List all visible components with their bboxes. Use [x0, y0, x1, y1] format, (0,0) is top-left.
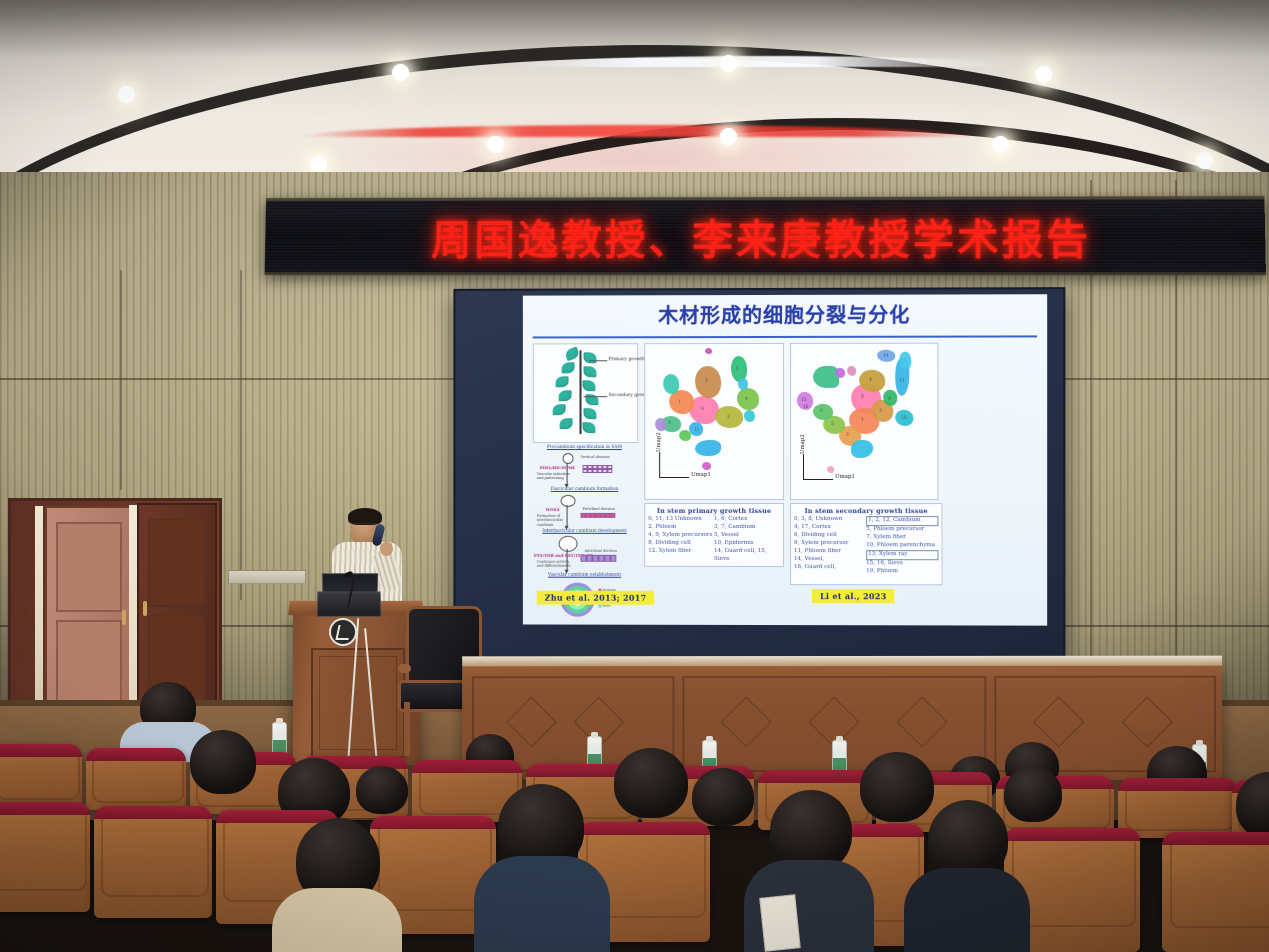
- legend-column: 1, 6, Cortex 3, 7, Cambium 5, Vessel 10,…: [714, 516, 780, 564]
- legend-secondary-growth: In stem secondary growth tissue 0, 3, 8,…: [790, 503, 942, 585]
- umap-cluster: [847, 366, 856, 376]
- legend-item: 5, Phloem precursor: [866, 526, 938, 534]
- umap-cluster-number: 6: [820, 408, 823, 413]
- flow-annotation: Periclinal division: [583, 507, 615, 511]
- flow-annotation: Vascular initiation and patterning: [537, 472, 577, 481]
- umap-cluster: [695, 440, 721, 456]
- auditorium-seat[interactable]: [94, 806, 212, 918]
- audience-head: [692, 768, 754, 826]
- legend-title: In stem secondary growth tissue: [791, 504, 941, 515]
- slide-title-rule: [533, 335, 1037, 338]
- slide-title: 木材形成的细胞分裂与分化: [523, 298, 1047, 328]
- flow-step-label: Procambium specification in SAM: [533, 445, 636, 450]
- seat-headrest: [86, 748, 186, 761]
- umap-cluster-number: 8: [888, 396, 891, 401]
- leaf-icon: [562, 362, 575, 373]
- flow-step-label: Vascular cambium establishment: [533, 573, 636, 578]
- legend-rows: 0, 11, 13 Unknown 2. Phloem 4, 9, Xylem …: [645, 515, 783, 565]
- umap-x-axis-label: Umap1: [691, 472, 711, 478]
- institution-emblem-icon: [329, 618, 357, 646]
- umap-cluster-number: 1: [678, 399, 681, 404]
- door-leaf-open[interactable]: [45, 506, 133, 732]
- document-paper[interactable]: [759, 894, 800, 951]
- auditorium-seat[interactable]: [1118, 778, 1238, 838]
- umap-y-axis-label: Umap2: [800, 434, 806, 454]
- umap-plot-secondary: 0 1 2 3 4 5 6 8 10: [790, 343, 938, 500]
- seat-headrest: [0, 744, 82, 757]
- ceiling-spotlight: [310, 156, 327, 173]
- audience-shoulders: [272, 888, 402, 952]
- door-light-gap: [35, 506, 43, 726]
- plant-stem: [580, 350, 582, 434]
- umap-cluster-number: 5: [736, 366, 739, 371]
- flow-gene-label: WOX4: [545, 507, 561, 512]
- auditorium-seat[interactable]: [1162, 832, 1269, 952]
- legend-item: 11, Phloem fiber: [794, 548, 866, 556]
- umap-cluster: [655, 418, 666, 431]
- umap-cluster-number: 14: [883, 353, 888, 358]
- umap-cluster: [702, 462, 711, 470]
- citation-left: Zhu et al. 2013; 2017: [537, 591, 655, 605]
- flow-arrow: [567, 505, 568, 527]
- cell-file-icon: [581, 555, 617, 562]
- umap-cluster-number: 11: [899, 378, 904, 383]
- legend-item: 2. Phloem: [648, 524, 714, 532]
- legend-primary-growth: In stem primary growth tissue 0, 11, 13 …: [644, 503, 784, 567]
- auditorium-seat[interactable]: [86, 748, 186, 810]
- leaf-icon: [583, 408, 596, 419]
- umap-y-axis: [803, 454, 804, 480]
- umap-scatter-primary: 0 1 2 3 4 5 9 11: [645, 344, 783, 499]
- audience-head: [1004, 766, 1062, 822]
- umap-cluster-number: 2: [879, 408, 882, 413]
- leaf-icon: [583, 380, 596, 391]
- legend-item: 4, 9, Xylem precursors: [648, 532, 714, 540]
- seat-headrest: [412, 760, 522, 773]
- legend-title: In stem primary growth tissue: [645, 504, 783, 515]
- seat-headrest: [578, 822, 710, 835]
- seat-headrest: [1004, 828, 1140, 841]
- audience-head: [356, 766, 408, 814]
- legend-item: 10, Phloem parenchyma: [866, 542, 938, 550]
- legend-item: 0, 11, 13 Unknown: [648, 516, 714, 524]
- legend-item: 6, Dividing cell: [794, 532, 866, 540]
- umap-cluster-number: 16: [803, 404, 808, 409]
- umap-cluster-number: 10: [901, 415, 906, 420]
- audience-head: [190, 730, 256, 794]
- umap-cluster-number: 0: [701, 406, 704, 411]
- umap-cluster: [738, 378, 748, 390]
- umap-cluster-number: 11: [694, 427, 699, 432]
- leaf-icon: [583, 366, 596, 377]
- flow-arrow: [567, 549, 568, 571]
- cell-icon: [559, 536, 578, 552]
- legend-item-highlighted: 1, 2, 12, Cambium: [866, 516, 938, 526]
- seat-headrest: [370, 816, 496, 829]
- legend-item: 14, Guard cell, 15, Sieve: [714, 548, 780, 564]
- umap-plot-primary: 0 1 2 3 4 5 9 11: [644, 343, 784, 500]
- leaf-icon: [583, 352, 596, 363]
- umap-scatter-secondary: 0 1 2 3 4 5 6 8 10: [791, 344, 937, 499]
- speaker-glasses: [353, 523, 377, 529]
- audience-head: [860, 752, 934, 822]
- legend-item: 12. Xylem fiber: [648, 548, 714, 556]
- seat-headrest: [1162, 832, 1269, 845]
- umap-x-axis-label: Umap1: [835, 474, 855, 480]
- head-table-top: [462, 656, 1222, 667]
- callout-line: [589, 360, 607, 361]
- umap-cluster-number: 4: [745, 396, 748, 401]
- ceiling-spotlight: [720, 55, 737, 72]
- umap-cluster-number: 5: [831, 421, 834, 426]
- flow-gene-label: PIN1/HD-ZIPIII: [539, 465, 576, 470]
- legend-column: 1, 2, 12, Cambium 5, Phloem precursor 7,…: [866, 516, 938, 576]
- audience-shoulders: [474, 856, 610, 952]
- legend-item: 5, Vessel: [714, 532, 780, 540]
- primary-growth-label: Primary growth: [608, 357, 645, 362]
- plant-growth-diagram: Primary growth Secondary growth: [533, 343, 638, 443]
- legend-item: 14, Vessel,: [794, 556, 866, 564]
- ceiling-spotlight: [720, 128, 737, 145]
- seat-headrest: [758, 770, 872, 783]
- speaker-hand: [380, 542, 393, 556]
- callout-line: [583, 396, 607, 397]
- led-banner-text: 周国逸教授、李来庚教授学术报告: [265, 199, 1266, 272]
- leaf-icon: [564, 347, 580, 361]
- umap-cluster: [744, 410, 755, 422]
- ceiling-spotlight: [1035, 66, 1052, 83]
- legend-item: 8, Dividing cell: [648, 540, 714, 548]
- umap-x-axis: [803, 479, 833, 480]
- seat-headrest: [1118, 778, 1238, 791]
- legend-item: 9, Xylem precursor: [794, 540, 866, 548]
- legend-item: 4, 17, Cortex: [794, 524, 866, 532]
- leaf-icon: [553, 404, 566, 415]
- flow-annotation: Vertical division: [581, 455, 610, 459]
- legend-item: 10, Epidermis: [714, 540, 780, 548]
- legend-item: 1, 6, Cortex: [714, 516, 780, 524]
- umap-cluster-number: 2: [705, 378, 708, 383]
- leaf-icon: [559, 390, 572, 401]
- umap-cluster: [705, 348, 712, 354]
- door-handle[interactable]: [143, 601, 147, 616]
- umap-cluster: [663, 374, 679, 394]
- umap-y-axis-label: Umap2: [656, 432, 662, 452]
- seat-headrest: [0, 802, 90, 815]
- legend-item-highlighted: 13, Xylem ray: [866, 550, 938, 560]
- umap-x-axis: [659, 477, 689, 478]
- umap-cluster-number: 4: [869, 377, 872, 382]
- audience-head: [614, 748, 688, 818]
- flow-arrow: [567, 463, 568, 485]
- legend-column: 0, 3, 8, Unknown 4, 17, Cortex 6, Dividi…: [794, 516, 866, 576]
- cell-file-icon: [583, 465, 613, 473]
- door-handle[interactable]: [122, 610, 126, 625]
- legend-rows: 0, 3, 8, Unknown 4, 17, Cortex 6, Dividi…: [791, 515, 941, 577]
- legend-item: 18, Guard cell,: [794, 564, 866, 572]
- umap-cluster: [851, 440, 873, 458]
- chair-armrest: [398, 664, 411, 673]
- leaf-icon: [556, 376, 569, 387]
- umap-cluster-number: 3: [727, 414, 730, 419]
- ceiling-spotlight: [118, 86, 135, 103]
- umap-cluster-number: 3: [846, 432, 849, 437]
- lectern-front-panel: [311, 648, 405, 758]
- legend-item: 0, 3, 8, Unknown: [794, 516, 866, 524]
- umap-cluster: [899, 352, 911, 370]
- projection-screen: 木材形成的细胞分裂与分化 Primary growth: [453, 287, 1065, 661]
- legend-item: 7, Xylem fiber: [866, 534, 938, 542]
- cell-file-icon: [581, 513, 616, 518]
- legend-item: 19, Phloem: [866, 568, 938, 576]
- legend-item: 3, 7, Cambium: [714, 524, 780, 532]
- cambium-development-flowchart: Procambium specification in SAM PIN1/HD-…: [533, 445, 636, 585]
- ceiling-spotlight: [1196, 152, 1213, 169]
- umap-cluster-number: 1: [861, 417, 864, 422]
- umap-cluster-number: 0: [861, 394, 864, 399]
- flow-annotation: Continues activity and differentiation: [537, 560, 577, 569]
- legend-column: 0, 11, 13 Unknown 2. Phloem 4, 9, Xylem …: [648, 516, 714, 564]
- umap-cluster: [835, 368, 845, 378]
- auditorium-seat[interactable]: [0, 744, 82, 808]
- audience-shoulders: [904, 868, 1030, 952]
- cell-icon: [563, 453, 574, 464]
- ceiling: [0, 0, 1269, 190]
- seat-headrest: [94, 806, 212, 819]
- umap-cluster-number: 15: [801, 397, 806, 402]
- ceiling-spotlight: [487, 136, 504, 153]
- flow-step-label: Fascicular cambium formation: [533, 487, 636, 492]
- lecture-hall-photo: 周国逸教授、李来庚教授学术报告 木材形成的细胞分裂与分化: [0, 0, 1269, 952]
- flow-annotation: Anticlinal division: [584, 549, 617, 553]
- flow-step-label: Interfascicular cambium development: [533, 529, 636, 534]
- umap-cluster-number: 9: [668, 420, 671, 425]
- citation-right: Li et al., 2023: [812, 589, 895, 603]
- legend-item: 15, 16, Sieve: [866, 560, 938, 568]
- leaf-icon: [583, 422, 596, 433]
- presentation-slide: 木材形成的细胞分裂与分化 Primary growth: [523, 294, 1047, 625]
- flow-annotation: Formation of interfascicular cambium: [537, 514, 577, 527]
- led-banner: 周国逸教授、李来庚教授学术报告: [265, 196, 1266, 275]
- umap-cluster: [679, 430, 691, 441]
- auditorium-seat[interactable]: [0, 802, 90, 912]
- ceiling-spotlight: [392, 64, 409, 81]
- chair-leg: [404, 702, 410, 756]
- ceiling-spotlight: [992, 136, 1009, 153]
- umap-y-axis: [659, 452, 660, 478]
- leaf-icon: [560, 418, 573, 429]
- umap-cluster: [827, 466, 834, 473]
- cell-icon: [561, 495, 576, 507]
- umap-cluster: [859, 370, 885, 392]
